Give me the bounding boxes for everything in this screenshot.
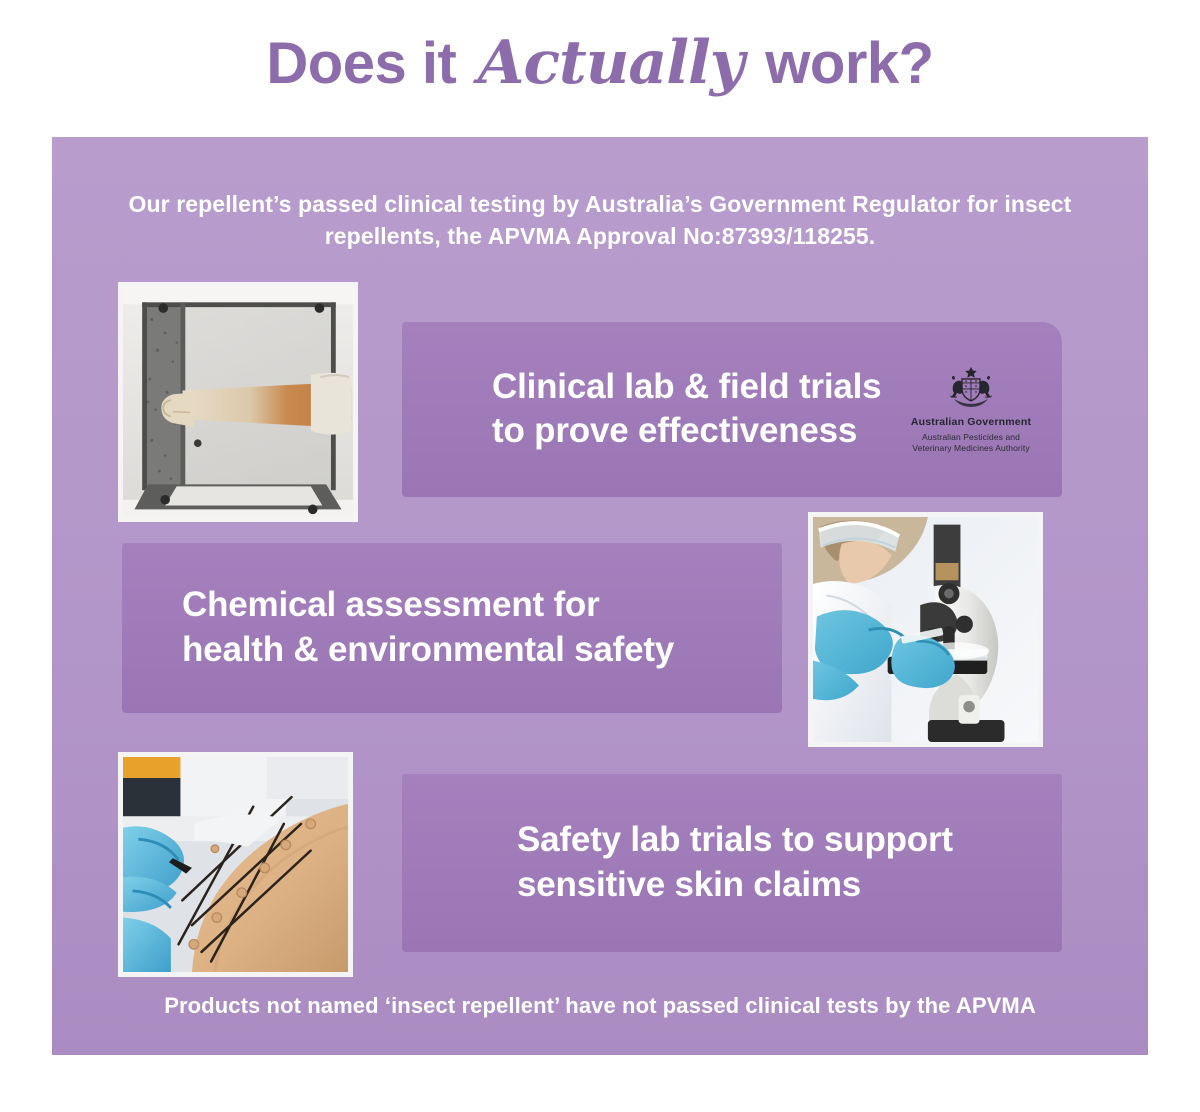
apvma-authority-lines: Australian Pesticides and Veterinary Med… bbox=[896, 432, 1046, 454]
disclaimer-note: Products not named ‘insect repellent’ ha… bbox=[52, 993, 1148, 1019]
content-panel: Our repellent’s passed clinical testing … bbox=[52, 137, 1148, 1055]
headline-before: Does it bbox=[266, 31, 456, 96]
apvma-logo: Australian Government Australian Pestici… bbox=[896, 365, 1046, 453]
feature-card-chemical-assessment-text: Chemical assessment for health & environ… bbox=[182, 583, 674, 673]
headline-script-word: Actually bbox=[472, 28, 750, 98]
feature-card-safety-trials-text: Safety lab trials to support sensitive s… bbox=[517, 818, 953, 908]
apvma-government-line: Australian Government bbox=[896, 415, 1046, 428]
photo-scientist-microscope-image bbox=[813, 517, 1038, 742]
promo-graphic: Does it Actually work? Our repellent’s p… bbox=[0, 0, 1200, 1112]
intro-paragraph: Our repellent’s passed clinical testing … bbox=[112, 189, 1088, 252]
feature-card-safety-trials[interactable]: Safety lab trials to support sensitive s… bbox=[402, 774, 1062, 952]
australian-coat-of-arms-icon bbox=[940, 365, 1002, 411]
photo-mosquito-cage-arm bbox=[118, 282, 358, 522]
feature-card-clinical-trials[interactable]: Clinical lab & field trials to prove eff… bbox=[402, 322, 1062, 497]
headline-after: work? bbox=[765, 31, 933, 96]
photo-skin-patch-test-image bbox=[123, 757, 348, 972]
feature-card-clinical-trials-text: Clinical lab & field trials to prove eff… bbox=[492, 365, 881, 455]
feature-card-chemical-assessment[interactable]: Chemical assessment for health & environ… bbox=[122, 543, 782, 713]
photo-mosquito-cage-arm-image bbox=[123, 287, 353, 517]
photo-scientist-microscope bbox=[808, 512, 1043, 747]
page-title: Does it Actually work? bbox=[0, 28, 1200, 98]
photo-skin-patch-test bbox=[118, 752, 353, 977]
